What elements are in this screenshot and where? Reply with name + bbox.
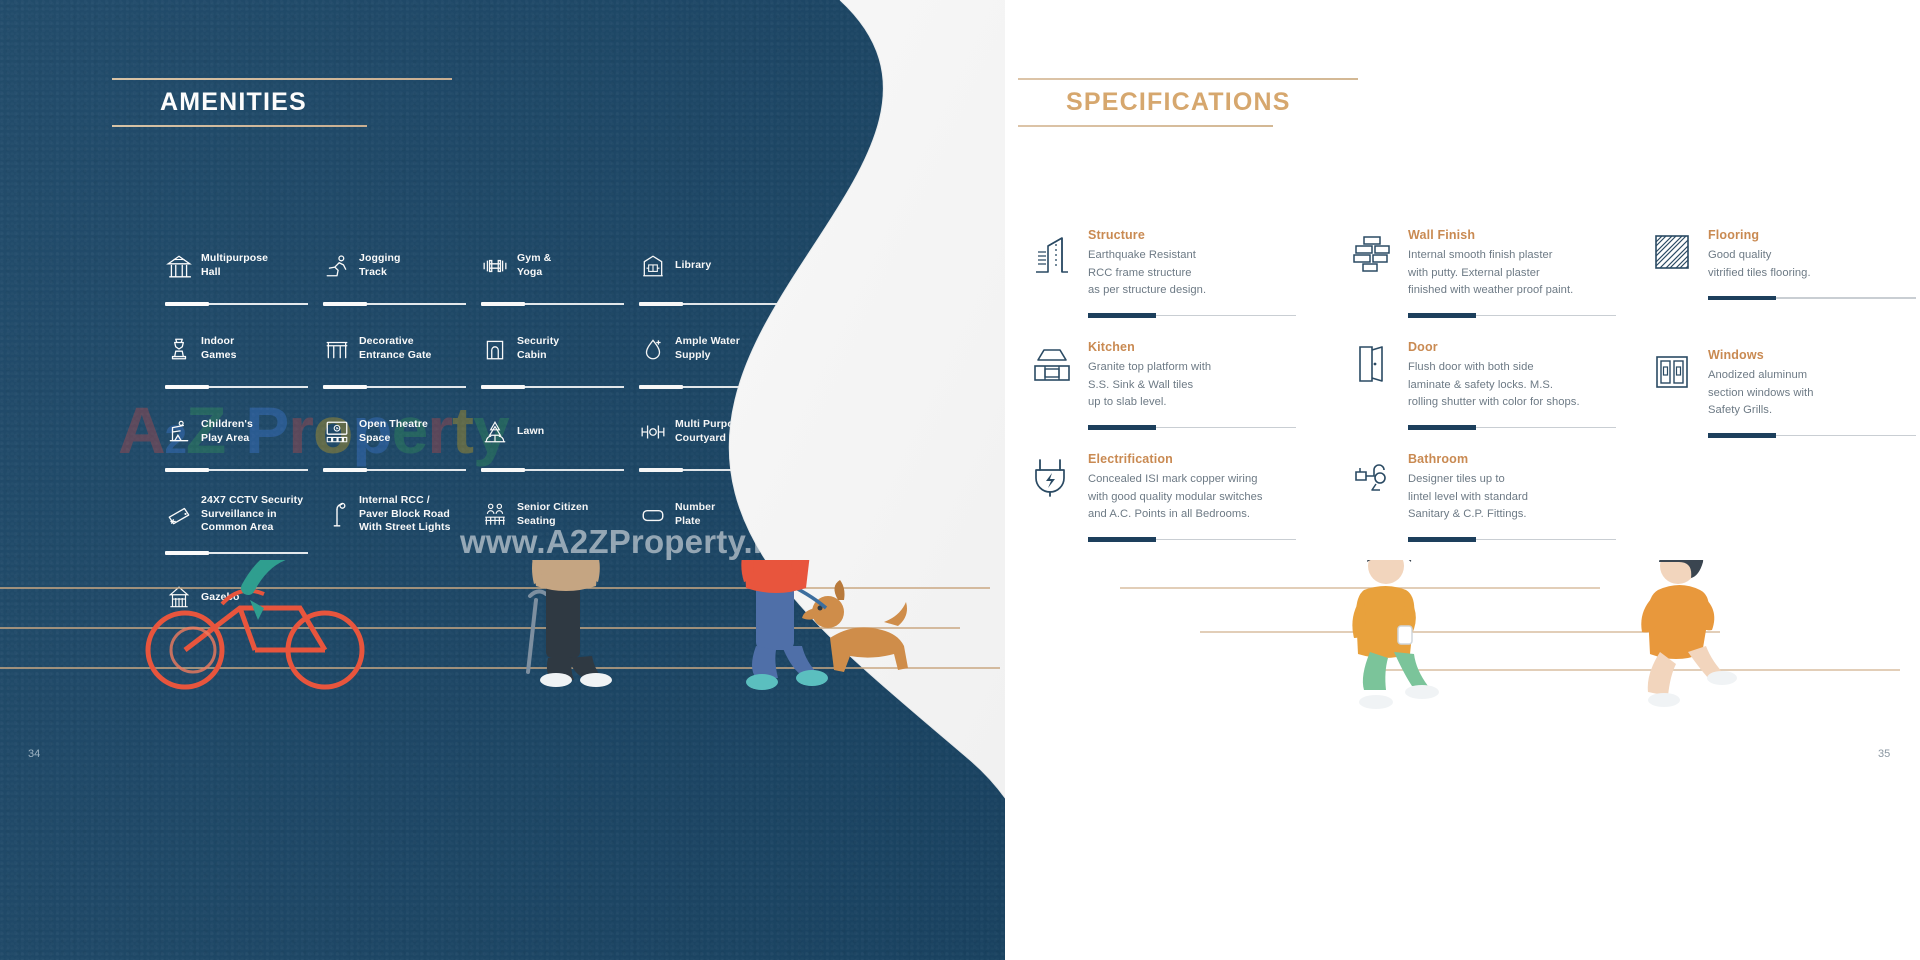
specification-title: Electrification <box>1088 452 1326 466</box>
specification-divider <box>1408 539 1616 541</box>
specification-description: Anodized aluminumsection windows withSaf… <box>1708 367 1866 420</box>
amenity-item[interactable]: Gym &Yoga <box>481 228 639 303</box>
electric-plug-icon <box>1030 454 1074 498</box>
specification-title: Kitchen <box>1088 340 1326 354</box>
amenity-label: Open TheatreSpace <box>359 418 428 446</box>
amenities-column-4: LibraryAmple WaterSupplyMulti PurposeCou… <box>639 228 797 635</box>
brochure-spread: A2ZProperty AMENITIES MultipurposeHallIn… <box>0 0 1920 960</box>
amenity-label: Gym &Yoga <box>517 252 551 280</box>
bathroom-tap-icon <box>1350 454 1394 498</box>
street-light-icon <box>323 501 350 528</box>
indoor-games-icon <box>165 335 192 362</box>
amenity-item[interactable]: NumberPlate <box>639 477 797 552</box>
amenity-label: Library <box>675 259 711 273</box>
specification-divider <box>1408 315 1616 317</box>
gym-yoga-icon <box>481 252 508 279</box>
specification-item[interactable]: DoorFlush door with both sidelaminate & … <box>1350 340 1650 440</box>
page-number-right: 35 <box>1878 748 1890 760</box>
amenity-divider <box>481 303 624 305</box>
jogging-track-icon <box>323 252 350 279</box>
building-icon <box>1030 230 1074 274</box>
amenities-header: AMENITIES <box>112 78 452 127</box>
amenity-label: NumberPlate <box>675 501 715 529</box>
amenity-item[interactable]: JoggingTrack <box>323 228 481 303</box>
specification-title: Wall Finish <box>1408 228 1626 242</box>
amenity-divider <box>165 386 308 388</box>
specification-divider <box>1708 435 1916 437</box>
specification-description: Granite top platform withS.S. Sink & Wal… <box>1088 359 1326 412</box>
amenity-divider <box>165 303 308 305</box>
kitchen-icon <box>1030 342 1074 386</box>
amenities-page: A2ZProperty AMENITIES MultipurposeHallIn… <box>0 0 1005 960</box>
amenity-label: MultipurposeHall <box>201 252 268 280</box>
amenity-item[interactable]: Senior CitizenSeating <box>481 477 639 552</box>
specification-title: Bathroom <box>1408 452 1626 466</box>
amenity-item[interactable]: SecurityCabin <box>481 311 639 386</box>
multipurpose-courtyard-icon <box>639 418 666 445</box>
amenity-label: Senior CitizenSeating <box>517 501 588 529</box>
specification-title: Windows <box>1708 348 1866 362</box>
amenity-divider <box>165 469 308 471</box>
floor-tiles-icon <box>1650 230 1694 274</box>
page-title-specifications: SPECIFICATIONS <box>1018 80 1358 125</box>
specification-item[interactable]: WindowsAnodized aluminumsection windows … <box>1650 340 1890 440</box>
specification-item[interactable]: KitchenGranite top platform withS.S. Sin… <box>1030 340 1350 440</box>
specifications-header: SPECIFICATIONS <box>1018 78 1358 127</box>
specification-divider <box>1088 427 1296 429</box>
amenity-label: Children'sPlay Area <box>201 418 253 446</box>
specification-title: Flooring <box>1708 228 1866 242</box>
page-number-left: 34 <box>28 748 40 760</box>
amenity-divider <box>323 469 466 471</box>
amenity-label: Multi PurposeCourtyard <box>675 418 746 446</box>
specification-description: Designer tiles up tolintel level with st… <box>1408 471 1626 524</box>
amenity-label: Internal RCC /Paver Block RoadWith Stree… <box>359 494 451 536</box>
amenity-item[interactable]: Multi PurposeCourtyard <box>639 394 797 469</box>
number-plate-icon <box>639 501 666 528</box>
gazebo-icon <box>165 584 192 611</box>
amenity-divider <box>481 386 624 388</box>
amenity-divider <box>639 469 782 471</box>
amenity-label: IndoorGames <box>201 335 237 363</box>
amenity-label: Gazebo <box>201 591 240 605</box>
amenity-item[interactable]: Lawn <box>481 394 639 469</box>
amenity-item[interactable]: Open TheatreSpace <box>323 394 481 469</box>
amenities-column-2: JoggingTrackDecorativeEntrance GateOpen … <box>323 228 481 635</box>
watermark-letter-a: A <box>118 392 165 468</box>
specification-description: Concealed ISI mark copper wiringwith goo… <box>1088 471 1326 524</box>
specification-title: Door <box>1408 340 1626 354</box>
amenities-grid: MultipurposeHallIndoorGamesChildren'sPla… <box>165 228 795 635</box>
amenity-item[interactable]: Internal RCC /Paver Block RoadWith Stree… <box>323 477 481 552</box>
specification-description: Earthquake ResistantRCC frame structurea… <box>1088 247 1326 300</box>
open-theatre-icon <box>323 418 350 445</box>
specification-title: Structure <box>1088 228 1326 242</box>
amenity-label: 24X7 CCTV SecuritySurveillance inCommon … <box>201 494 303 536</box>
specification-divider <box>1088 315 1296 317</box>
header-rule-bottom <box>1018 125 1273 127</box>
header-rule-bottom <box>112 125 367 127</box>
amenities-column-3: Gym &YogaSecurityCabinLawnSenior Citizen… <box>481 228 639 635</box>
amenity-item[interactable]: IndoorGames <box>165 311 323 386</box>
specification-item[interactable]: ElectrificationConcealed ISI mark copper… <box>1030 452 1350 540</box>
specification-divider <box>1708 297 1916 299</box>
multipurpose-hall-icon <box>165 252 192 279</box>
amenity-item[interactable]: Children'sPlay Area <box>165 394 323 469</box>
amenity-label: Ample WaterSupply <box>675 335 740 363</box>
amenity-label: DecorativeEntrance Gate <box>359 335 432 363</box>
entrance-gate-icon <box>323 335 350 362</box>
window-icon <box>1650 350 1694 394</box>
specifications-grid: StructureEarthquake ResistantRCC frame s… <box>1030 228 1890 552</box>
amenity-item[interactable]: Gazebo <box>165 560 323 635</box>
childrens-play-area-icon <box>165 418 192 445</box>
amenity-label: SecurityCabin <box>517 335 559 363</box>
door-icon <box>1350 342 1394 386</box>
specification-description: Flush door with both sidelaminate & safe… <box>1408 359 1626 412</box>
specification-description: Good qualityvitrified tiles flooring. <box>1708 247 1866 282</box>
specification-item[interactable]: StructureEarthquake ResistantRCC frame s… <box>1030 228 1350 328</box>
amenity-item[interactable]: 24X7 CCTV SecuritySurveillance inCommon … <box>165 477 323 552</box>
water-drop-icon <box>639 335 666 362</box>
amenity-divider <box>323 386 466 388</box>
amenity-item[interactable]: Library <box>639 228 797 303</box>
specification-divider <box>1088 539 1296 541</box>
amenity-divider <box>639 303 782 305</box>
specification-item[interactable]: FlooringGood qualityvitrified tiles floo… <box>1650 228 1890 328</box>
library-icon <box>639 252 666 279</box>
brick-wall-icon <box>1350 230 1394 274</box>
amenity-item[interactable]: MultipurposeHall <box>165 228 323 303</box>
specification-item[interactable]: BathroomDesigner tiles up tolintel level… <box>1350 452 1650 540</box>
amenity-divider <box>165 552 308 554</box>
amenity-item[interactable]: Ample WaterSupply <box>639 311 797 386</box>
specification-divider <box>1408 427 1616 429</box>
amenity-label: Lawn <box>517 425 544 439</box>
cctv-camera-icon <box>165 501 192 528</box>
page-title-amenities: AMENITIES <box>112 80 452 125</box>
amenity-divider <box>323 303 466 305</box>
lawn-icon <box>481 418 508 445</box>
specification-description: Internal smooth finish plasterwith putty… <box>1408 247 1626 300</box>
amenity-divider <box>481 469 624 471</box>
amenity-divider <box>639 386 782 388</box>
amenity-item[interactable]: DecorativeEntrance Gate <box>323 311 481 386</box>
security-cabin-icon <box>481 335 508 362</box>
amenities-column-1: MultipurposeHallIndoorGamesChildren'sPla… <box>165 228 323 635</box>
specification-item[interactable]: Wall FinishInternal smooth finish plaste… <box>1350 228 1650 328</box>
senior-citizen-seating-icon <box>481 501 508 528</box>
amenity-label: JoggingTrack <box>359 252 401 280</box>
